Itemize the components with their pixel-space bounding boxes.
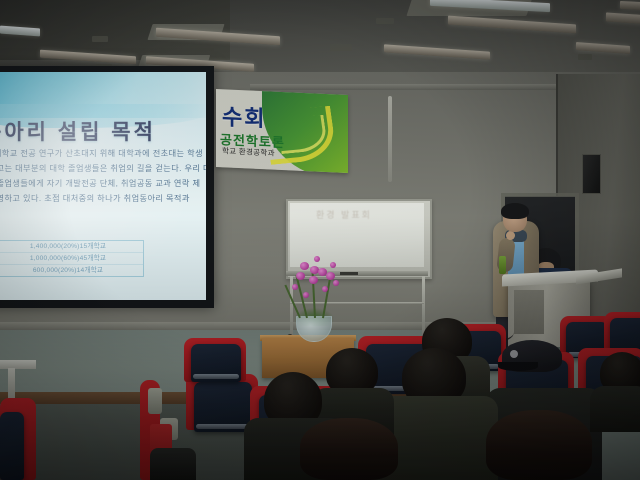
orchid-bloom <box>303 292 309 298</box>
orchid-bloom <box>314 256 320 262</box>
banner-footline: 학교 환경공학과 <box>222 145 275 158</box>
presenter-hair <box>501 203 529 219</box>
slide-title: 동아리 설립 목적 <box>0 116 206 146</box>
seat-rail <box>196 424 250 429</box>
small-table <box>0 360 36 369</box>
slide-body-line: 우리 고는 대부분의 대학 졸업생들은 취업의 길을 걷는다. 우리 대 <box>0 161 206 176</box>
attendee-shoulders <box>590 386 640 432</box>
orchid-bloom <box>309 276 318 284</box>
slide-table-row: 1,400,000(20%)15개학교 <box>0 241 143 253</box>
projection-screen: 동아리 설립 목적 전문대학교 전공 연구가 산초대지 위해 대학과에 전초대는… <box>0 72 206 300</box>
banner-hanging-rod <box>388 96 392 182</box>
slide-body-line: 로 운영하고 있다. 초점 대처중의 하나가 취업동아리 목적과 <box>0 191 206 206</box>
slide-header-graphic <box>0 72 206 118</box>
seat-back <box>0 412 24 480</box>
slide-body-line: 전문대학교 전공 연구가 산초대지 위해 대학과에 전초대는 학생 <box>0 146 206 161</box>
presenter-hand-with-microphone <box>506 231 515 240</box>
water-bottle <box>499 256 506 274</box>
attendee-cap-brim <box>498 362 538 371</box>
slide-body: 전문대학교 전공 연구가 산초대지 위해 대학과에 전초대는 학생 우리 고는 … <box>0 146 206 206</box>
lecture-hall-photo: 동아리 설립 목적 전문대학교 전공 연구가 산초대지 위해 대학과에 전초대는… <box>0 0 640 480</box>
orchid-bloom <box>300 262 309 270</box>
attendee-long-hair <box>300 418 398 480</box>
wall-banner: 수회 공전학토론 학교 환경공학과 <box>216 89 348 173</box>
orchid-bloom <box>322 286 328 292</box>
whiteboard-crossbar <box>290 302 424 304</box>
slide-table: 1,400,000(20%)15개학교 1,000,000(60%)45개학교 … <box>0 240 144 277</box>
wall-speaker-icon <box>582 154 601 194</box>
slide-table-row: 1,000,000(60%)45개학교 <box>0 253 143 265</box>
whiteboard-eraser <box>340 272 358 275</box>
attendee-bag <box>150 448 196 480</box>
attendee-long-hair <box>486 410 592 480</box>
ceiling-vent <box>376 18 394 24</box>
ceiling-vent <box>92 36 108 42</box>
whiteboard-writing: 환경 발표회 <box>316 208 416 221</box>
ceiling-vent <box>330 44 352 51</box>
orchid-bloom <box>292 284 298 290</box>
podium-panel <box>514 290 544 334</box>
seat-armrest <box>148 388 162 414</box>
seat-rail <box>193 374 239 379</box>
slide-table-row: 600,000(20%)14개학교 <box>0 265 143 276</box>
ceiling-vent <box>578 54 592 60</box>
slide-body-line: 행정 졸업생들에게 자기 개발전공 단체, 취업공동 교과 연락 제 <box>0 176 206 191</box>
orchid-bloom <box>326 272 335 280</box>
orchid-bloom <box>333 280 339 286</box>
orchid-bloom <box>296 272 305 280</box>
banner-headline: 수회 <box>222 99 266 133</box>
orchid-bloom <box>330 262 336 268</box>
attendee-cap-logo-icon <box>510 350 518 358</box>
